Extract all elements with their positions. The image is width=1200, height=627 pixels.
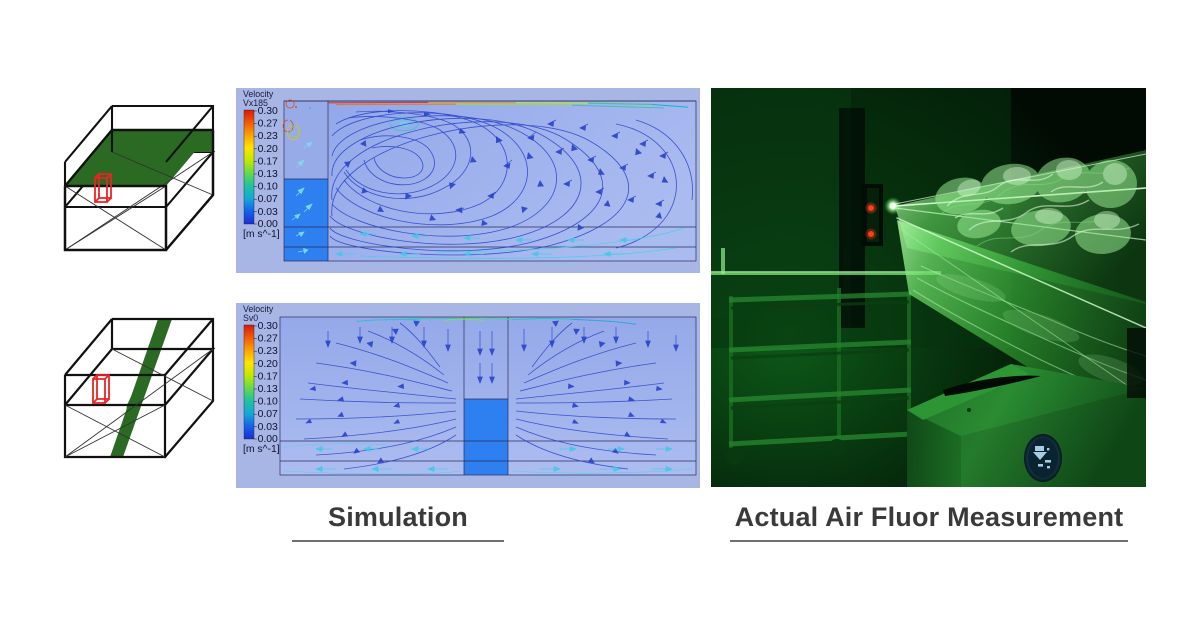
svg-text:0.23: 0.23 — [258, 346, 278, 357]
inlet-block-2 — [464, 399, 508, 475]
svg-text:0.30: 0.30 — [258, 106, 278, 117]
svg-text:0.10: 0.10 — [258, 397, 278, 408]
caption-simulation-rule — [292, 540, 504, 542]
caption-simulation: Simulation — [292, 502, 504, 542]
caption-simulation-text: Simulation — [292, 502, 504, 533]
colorbar-unit: [m s^-1] — [243, 229, 280, 240]
svg-text:0.23: 0.23 — [258, 131, 278, 142]
svg-text:0.13: 0.13 — [258, 169, 278, 180]
green-plane-wedge — [110, 319, 172, 457]
svg-text:0.17: 0.17 — [258, 156, 278, 167]
schematic-horizontal-plane — [55, 90, 230, 285]
caption-measurement: Actual Air Fluor Measurement — [730, 502, 1128, 542]
svg-text:0.00: 0.00 — [258, 219, 278, 230]
svg-text:0.07: 0.07 — [258, 194, 278, 205]
svg-text:0.20: 0.20 — [258, 359, 278, 370]
svg-text:0.27: 0.27 — [258, 119, 278, 130]
svg-text:0.20: 0.20 — [258, 144, 278, 155]
svg-text:0.03: 0.03 — [258, 422, 278, 433]
svg-text:0.17: 0.17 — [258, 371, 278, 382]
svg-text:0.00: 0.00 — [258, 434, 278, 445]
cfd-panel-horizontal-section: Velocity Vx185 0.30 0.27 0.23 0.20 0.17 … — [236, 88, 700, 273]
svg-text:0.07: 0.07 — [258, 409, 278, 420]
svg-text:0.03: 0.03 — [258, 207, 278, 218]
caption-measurement-rule — [730, 540, 1128, 542]
svg-text:0.10: 0.10 — [258, 182, 278, 193]
colorbar2-title-line2: Sv0 — [243, 313, 258, 323]
flow-domain — [283, 100, 696, 261]
experiment-photograph — [711, 88, 1146, 487]
cfd-panel-vertical-section: Velocity Sv0 0.30 0.27 0.23 0.20 0.17 0.… — [236, 303, 700, 488]
svg-text:0.30: 0.30 — [258, 321, 278, 332]
figure-canvas: Velocity Vx185 0.30 0.27 0.23 0.20 0.17 … — [0, 0, 1200, 627]
svg-text:0.27: 0.27 — [258, 334, 278, 345]
flow-domain-2 — [280, 317, 696, 475]
colorbar2-unit: [m s^-1] — [243, 444, 280, 455]
inlet-block — [284, 179, 328, 261]
schematic-vertical-plane — [55, 305, 230, 490]
sensor-marker-icon — [93, 375, 109, 403]
caption-measurement-text: Actual Air Fluor Measurement — [730, 502, 1128, 533]
svg-text:0.13: 0.13 — [258, 384, 278, 395]
